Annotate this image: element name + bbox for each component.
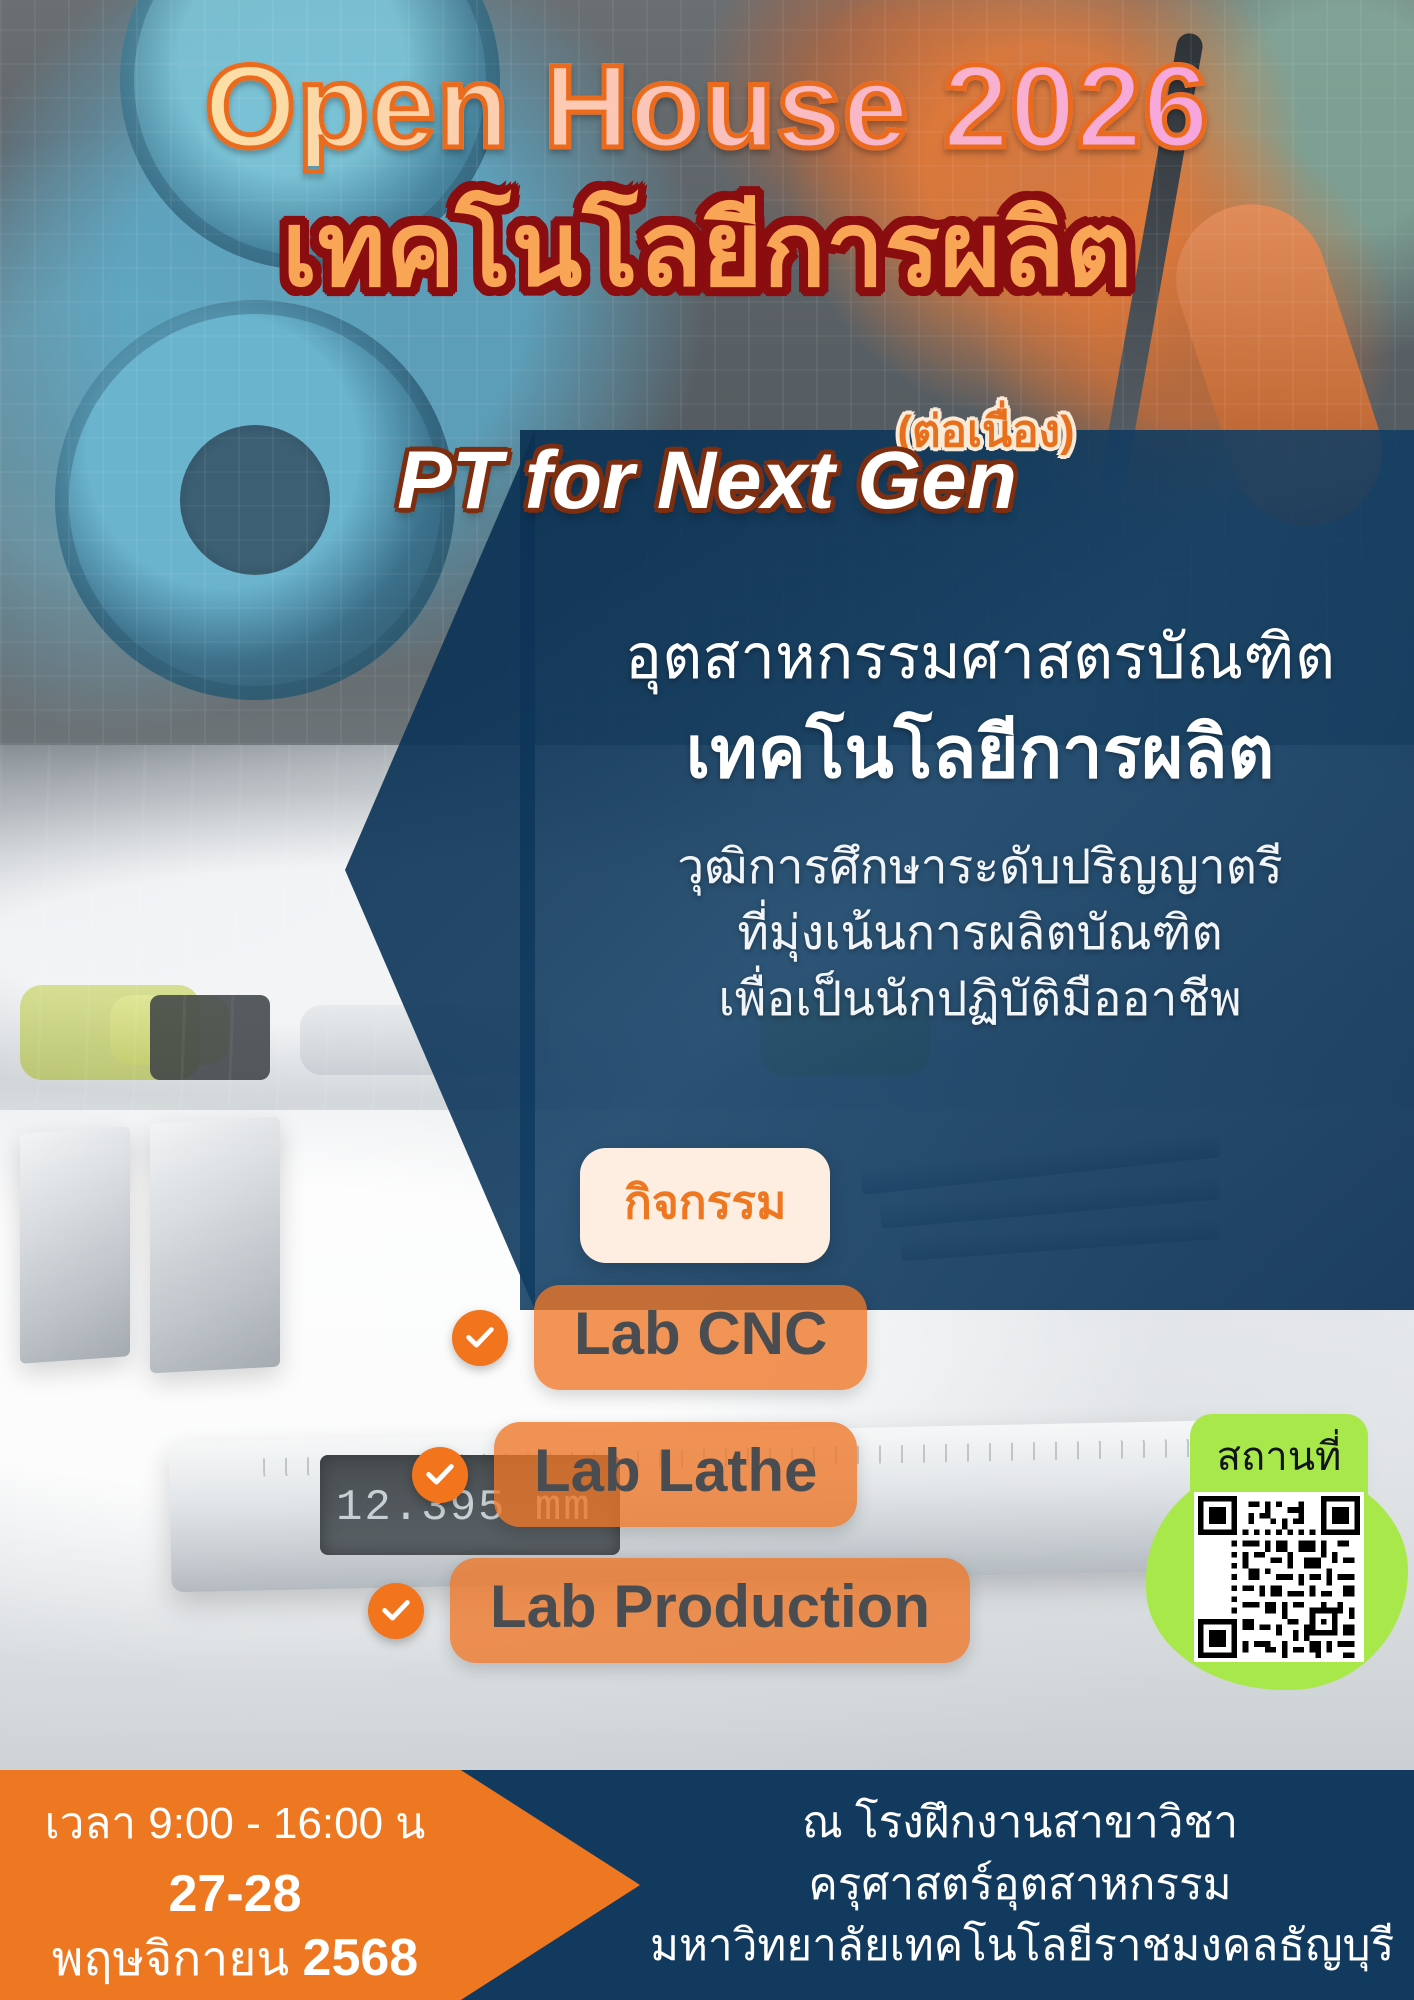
program-description-line-1: วุฒิการศึกษาระดับปริญญาตรี: [560, 835, 1400, 901]
program-description-line-3: เพื่อเป็นนักปฏิบัติมืออาชีพ: [560, 967, 1400, 1033]
footer-date: 27-28: [0, 1866, 470, 1923]
activity-label-lab-production: Lab Production: [450, 1558, 970, 1663]
title-th: เทคโนโลยีการผลิต: [0, 192, 1414, 308]
program-major: เทคโนโลยีการผลิต: [560, 710, 1400, 798]
activity-label-lab-lathe: Lab Lathe: [494, 1422, 857, 1527]
title-en: Open House 2026: [0, 48, 1414, 166]
footer-venue-line-2: ครุศาสตร์อุตสาหกรรม: [650, 1854, 1390, 1916]
footer-year: 2568: [303, 1929, 419, 1987]
location-label: สถานที่: [1190, 1424, 1368, 1488]
check-circle-icon: [412, 1447, 468, 1503]
footer-venue-line-3: มหาวิทยาลัยเทคโนโลยีราชมงคลธัญบุรี: [650, 1915, 1390, 1977]
poster-root: 12.395 mm Open House 2026 Open House 202…: [0, 0, 1414, 2000]
check-circle-icon: [368, 1583, 424, 1639]
activity-item-lab-production[interactable]: Lab Production: [368, 1558, 970, 1663]
program-description-line-2: ที่มุ่งเน้นการผลิตบัณฑิต: [560, 901, 1400, 967]
footer-venue: ณ โรงฝึกงานสาขาวิชา ครุศาสตร์อุตสาหกรรม …: [650, 1792, 1390, 1977]
check-circle-icon: [452, 1310, 508, 1366]
activities-label: กิจกรรม: [580, 1148, 830, 1263]
activity-label-lab-cnc: Lab CNC: [534, 1285, 867, 1390]
footer-month-year: พฤษจิกายน 2568: [0, 1930, 470, 1987]
footer-month: พฤษจิกายน: [52, 1933, 289, 1986]
footer-time: เวลา 9:00 - 16:00 น: [0, 1800, 470, 1848]
tagline: PT for Next Gen: [0, 440, 1414, 522]
activity-item-lab-lathe[interactable]: Lab Lathe: [412, 1422, 857, 1527]
location-qr-block[interactable]: สถานที่: [1168, 1448, 1386, 1688]
footer-venue-line-1: ณ โรงฝึกงานสาขาวิชา: [650, 1792, 1390, 1854]
program-description: วุฒิการศึกษาระดับปริญญาตรี ที่มุ่งเน้นกา…: [560, 835, 1400, 1034]
program-degree: อุตสาหกรรมศาสตรบัณฑิต: [560, 620, 1400, 696]
activity-item-lab-cnc[interactable]: Lab CNC: [452, 1285, 867, 1390]
qr-code-icon[interactable]: [1194, 1492, 1364, 1662]
